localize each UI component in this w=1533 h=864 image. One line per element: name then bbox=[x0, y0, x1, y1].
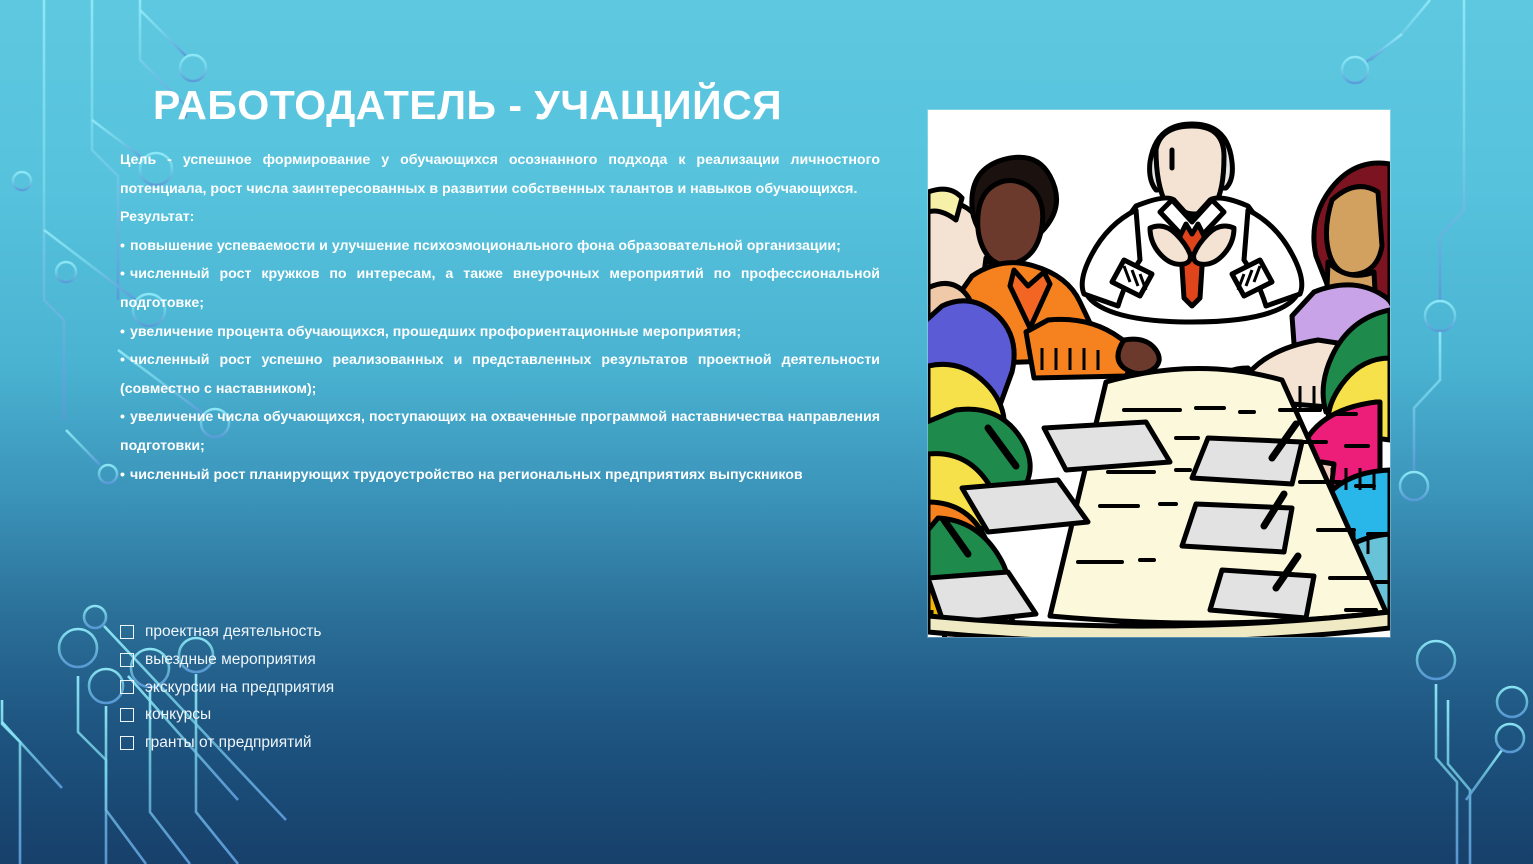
body-text-block: Цель - успешное формирование у обучающих… bbox=[120, 146, 880, 489]
checklist-item-label: гранты от предприятий bbox=[145, 729, 312, 757]
checklist-item-label: проектная деятельность bbox=[145, 618, 322, 646]
checklist-item-field-events[interactable]: выездные мероприятия bbox=[120, 646, 540, 674]
bullet-marker: • bbox=[120, 324, 125, 340]
meeting-illustration bbox=[928, 110, 1390, 637]
bullet-marker: • bbox=[120, 409, 125, 425]
bullet-text: повышение успеваемости и улучшение психо… bbox=[130, 238, 841, 254]
result-bullet-4: •численный рост успешно реализованных и … bbox=[120, 346, 880, 403]
checklist-item-contests[interactable]: конкурсы bbox=[120, 701, 540, 729]
checkbox-icon[interactable] bbox=[120, 653, 134, 667]
meeting-clipart-icon bbox=[928, 110, 1390, 637]
bullet-text: численный рост кружков по интересам, а т… bbox=[120, 266, 880, 311]
bullet-marker: • bbox=[120, 266, 125, 282]
checkbox-icon[interactable] bbox=[120, 708, 134, 722]
slide-canvas: РАБОТОДАТЕЛЬ - УЧАЩИЙСЯ Цель - успешное … bbox=[0, 0, 1533, 864]
page-title: РАБОТОДАТЕЛЬ - УЧАЩИЙСЯ bbox=[153, 84, 913, 127]
checklist-item-project-activity[interactable]: проектная деятельность bbox=[120, 618, 540, 646]
checkbox-icon[interactable] bbox=[120, 736, 134, 750]
checklist-item-grants[interactable]: гранты от предприятий bbox=[120, 729, 540, 757]
result-bullet-2: •численный рост кружков по интересам, а … bbox=[120, 260, 880, 317]
bullet-text: численный рост планирующих трудоустройст… bbox=[130, 467, 803, 483]
checklist-item-label: конкурсы bbox=[145, 701, 211, 729]
bullet-text: увеличение числа обучающихся, поступающи… bbox=[120, 409, 880, 454]
result-bullet-1: •повышение успеваемости и улучшение псих… bbox=[120, 232, 880, 261]
checkbox-icon[interactable] bbox=[120, 625, 134, 639]
checklist-item-label: выездные мероприятия bbox=[145, 646, 316, 674]
goal-paragraph: Цель - успешное формирование у обучающих… bbox=[120, 146, 880, 203]
result-bullet-6: •численный рост планирующих трудоустройс… bbox=[120, 461, 880, 490]
bullet-marker: • bbox=[120, 352, 125, 368]
bullet-text: численный рост успешно реализованных и п… bbox=[120, 352, 880, 397]
circuit-bottom-right-group bbox=[1398, 641, 1527, 864]
result-label: Результат: bbox=[120, 203, 880, 232]
checklist-item-excursions[interactable]: экскурсии на предприятия bbox=[120, 674, 540, 702]
checklist-block: проектная деятельность выездные мероприя… bbox=[120, 618, 540, 757]
result-bullet-3: •увеличение процента обучающихся, прошед… bbox=[120, 318, 880, 347]
bullet-marker: • bbox=[120, 467, 125, 483]
checklist-item-label: экскурсии на предприятия bbox=[145, 674, 334, 702]
checkbox-icon[interactable] bbox=[120, 680, 134, 694]
result-bullet-5: •увеличение числа обучающихся, поступающ… bbox=[120, 403, 880, 460]
bullet-marker: • bbox=[120, 238, 125, 254]
bullet-text: увеличение процента обучающихся, прошедш… bbox=[130, 324, 741, 340]
